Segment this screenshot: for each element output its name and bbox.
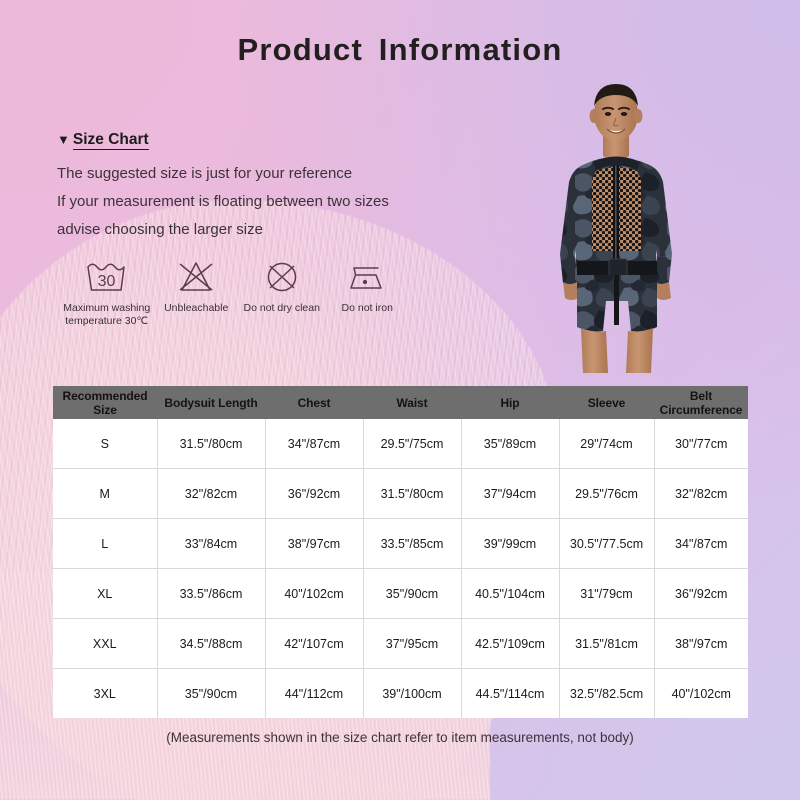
care-caption: Maximum washing temperature 30℃ [57,302,156,328]
triangle-down-icon: ▼ [57,132,70,147]
table-cell: 31.5"/80cm [157,419,265,469]
table-cell: 44"/112cm [265,669,363,719]
care-caption: Do not dry clean [236,302,327,315]
table-cell: 34"/87cm [265,419,363,469]
table-cell: 35"/90cm [363,569,461,619]
table-cell: 31.5"/80cm [363,469,461,519]
table-header-cell: Sleeve [559,386,654,419]
table-cell: 32"/82cm [654,469,748,519]
size-chart-heading: ▼Size Chart [57,131,149,149]
page-title: Product Information [0,32,800,68]
table-header-cell: Hip [461,386,559,419]
table-cell: 30.5"/77.5cm [559,519,654,569]
table-cell: 29"/74cm [559,419,654,469]
table-cell: 40.5"/104cm [461,569,559,619]
table-cell: 39"/99cm [461,519,559,569]
table-header-cell: Chest [265,386,363,419]
table-cell-size: XXL [53,619,157,669]
table-cell: 40"/102cm [265,569,363,619]
care-item-bleach: Unbleachable [156,256,236,315]
table-header-row: Recommended Size Bodysuit Length Chest W… [53,386,748,419]
table-row: 3XL 35"/90cm 44"/112cm 39"/100cm 44.5"/1… [53,669,748,719]
table-cell: 33"/84cm [157,519,265,569]
table-cell: 42.5"/109cm [461,619,559,669]
table-cell: 42"/107cm [265,619,363,669]
table-cell: 32"/82cm [157,469,265,519]
table-header-cell: Recommended Size [53,386,157,419]
size-chart-note-line: The suggested size is just for your refe… [57,160,389,188]
table-cell: 36"/92cm [654,569,748,619]
table-cell: 39"/100cm [363,669,461,719]
size-chart-heading-label: Size Chart [73,131,149,150]
table-cell: 37"/94cm [461,469,559,519]
table-cell: 32.5"/82.5cm [559,669,654,719]
table-cell: 33.5"/85cm [363,519,461,569]
table-cell: 36"/92cm [265,469,363,519]
size-chart-notes: The suggested size is just for your refe… [57,160,389,244]
table-cell: 31.5"/81cm [559,619,654,669]
care-item-wash: 30 Maximum washing temperature 30℃ [57,256,156,328]
size-chart-note-line: If your measurement is floating between … [57,188,389,216]
table-cell-size: XL [53,569,157,619]
table-header-cell: Bodysuit Length [157,386,265,419]
table-cell: 34.5"/88cm [157,619,265,669]
table-row: S 31.5"/80cm 34"/87cm 29.5"/75cm 35"/89c… [53,419,748,469]
size-chart-table: Recommended Size Bodysuit Length Chest W… [53,386,748,718]
table-cell-size: S [53,419,157,469]
table-header-cell: Belt Circumference [654,386,748,419]
table-cell: 44.5"/114cm [461,669,559,719]
table-cell: 35"/89cm [461,419,559,469]
table-header-cell: Waist [363,386,461,419]
table-cell: 30"/77cm [654,419,748,469]
table-cell: 35"/90cm [157,669,265,719]
care-instructions-row: 30 Maximum washing temperature 30℃ Unble… [57,256,407,328]
product-information-page: Product Information ▼Size Chart The sugg… [0,0,800,800]
measurement-disclaimer: (Measurements shown in the size chart re… [0,730,800,745]
care-caption: Do not iron [327,302,407,315]
product-photo [527,78,707,373]
table-row: XL 33.5"/86cm 40"/102cm 35"/90cm 40.5"/1… [53,569,748,619]
table-cell-size: M [53,469,157,519]
table-cell: 31"/79cm [559,569,654,619]
do-not-iron-icon [327,256,407,298]
table-cell: 29.5"/76cm [559,469,654,519]
wash-tub-30-icon: 30 [57,256,156,298]
no-bleach-icon [156,256,236,298]
care-item-dry-clean: Do not dry clean [236,256,327,315]
table-cell-size: L [53,519,157,569]
care-caption: Unbleachable [156,302,236,315]
wash-temp-value: 30 [97,273,115,290]
table-row: XXL 34.5"/88cm 42"/107cm 37"/95cm 42.5"/… [53,619,748,669]
size-chart-note-line: advise choosing the larger size [57,216,389,244]
table-cell: 38"/97cm [265,519,363,569]
table-cell: 37"/95cm [363,619,461,669]
no-dry-clean-icon [236,256,327,298]
table-row: L 33"/84cm 38"/97cm 33.5"/85cm 39"/99cm … [53,519,748,569]
table-cell: 38"/97cm [654,619,748,669]
table-cell: 33.5"/86cm [157,569,265,619]
table-cell: 29.5"/75cm [363,419,461,469]
care-item-iron: Do not iron [327,256,407,315]
table-cell: 40"/102cm [654,669,748,719]
table-cell-size: 3XL [53,669,157,719]
table-row: M 32"/82cm 36"/92cm 31.5"/80cm 37"/94cm … [53,469,748,519]
table-cell: 34"/87cm [654,519,748,569]
